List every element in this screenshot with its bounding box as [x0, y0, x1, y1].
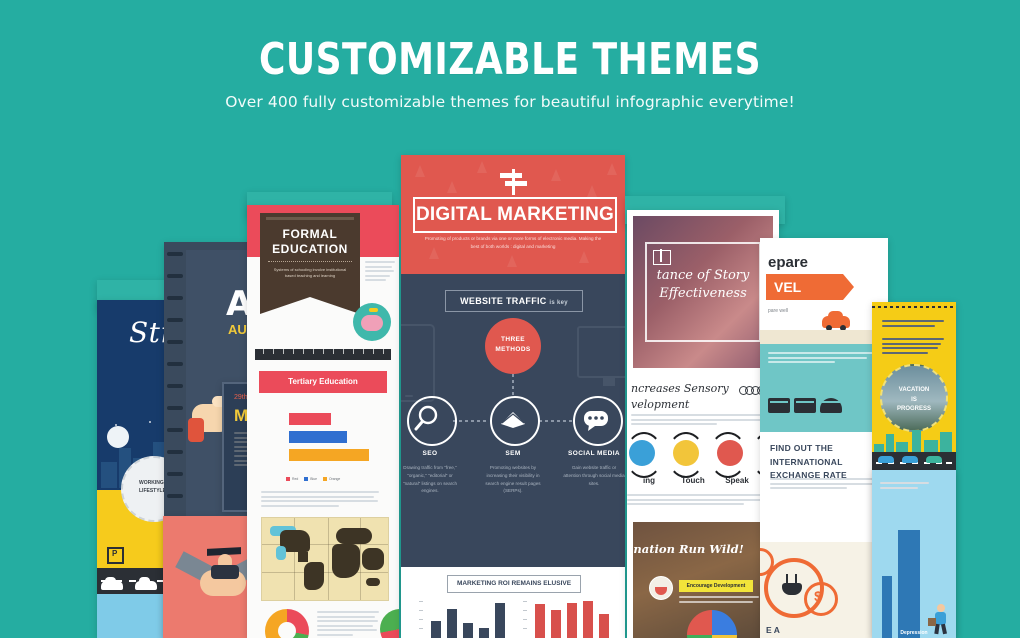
encourage-highlight: Encourage Development: [679, 580, 753, 592]
digital-marketing-title: DIGITAL MARKETING: [415, 204, 615, 226]
bar-large: Depression: [898, 530, 920, 638]
travel-teal-section: [760, 344, 888, 432]
travel-communication-section: $ E A MUNICATION PLAN: [760, 542, 888, 638]
method-label-social: SOCIAL MEDIA: [558, 450, 625, 457]
credit-card-icon: [768, 398, 790, 413]
graduation-cap-icon: [211, 548, 237, 574]
legend-item: Orange: [329, 477, 340, 481]
story-title-line-1: tance of Story: [637, 268, 769, 283]
story-photo: tance of Story Effectiveness: [633, 216, 773, 368]
plug-icon: [782, 574, 802, 596]
social-media-icon-circle[interactable]: [573, 396, 623, 446]
car-icon: [101, 581, 123, 590]
dna-label-3: Speak: [707, 476, 767, 485]
banner-title-line-1: FORMAL: [260, 227, 360, 241]
wallet-icon: [820, 398, 842, 413]
story-title-line-2: Effectiveness: [637, 286, 769, 301]
story-body: [631, 414, 767, 428]
vacation-body-1: [882, 320, 944, 329]
sand-band: [760, 330, 888, 344]
digital-marketing-chart-section: MARKETING ROI REMAINS ELUSIVE: [401, 567, 625, 638]
travel-ribbon-text: VEL: [774, 279, 801, 295]
roi-chart-title-box: MARKETING ROI REMAINS ELUSIVE: [447, 575, 581, 593]
theme-card-formal-education[interactable]: FORMAL EDUCATION Systems of schooling in…: [247, 205, 399, 638]
badge-line-2: LIFESTYLE: [139, 488, 166, 494]
exchange-body: [770, 478, 880, 492]
imagination-title: gination Run Wild!: [627, 542, 771, 556]
credit-card-icon: [794, 398, 816, 413]
dollar-circle-icon: $: [804, 582, 838, 616]
formal-education-body-right: [317, 611, 379, 638]
theme-gallery-stage: CUSTOMIZABLE THEMES Over 400 fully custo…: [0, 0, 1020, 638]
legend-item: Blue: [310, 477, 317, 481]
travel-heading: epare: [768, 254, 808, 271]
theme-card-depression-chart[interactable]: Depression: [872, 470, 956, 638]
roi-chart-red: [523, 599, 611, 638]
digital-marketing-subtitle: Promoting of products or brands via one …: [423, 235, 603, 251]
comm-line-1: E A: [766, 625, 780, 635]
dotted-divider: [872, 306, 956, 308]
travel-ribbon: VEL: [766, 274, 854, 300]
theme-card-travel[interactable]: epare VEL pare well FIND OUT THE INTERNA…: [760, 238, 888, 638]
hub-connector-left: [453, 420, 487, 422]
roi-chart-title: MARKETING ROI REMAINS ELUSIVE: [448, 580, 580, 587]
travel-teal-body: [768, 352, 880, 366]
car-icon: [135, 581, 157, 590]
communication-plan-title: E A MUNICATION PLAN: [766, 624, 845, 638]
hub-connector-vertical: [512, 374, 514, 396]
seo-icon-circle[interactable]: [407, 396, 457, 446]
method-label-sem: SEM: [477, 450, 549, 457]
moon-icon: [107, 426, 129, 448]
monitor-outline-icon: [577, 326, 625, 378]
imagination-body: [679, 596, 759, 605]
legend-item: Red: [292, 477, 298, 481]
exchange-title: FIND OUT THE INTERNATIONAL EXCHANGE RATE: [770, 442, 888, 483]
digital-marketing-title-box: DIGITAL MARKETING: [413, 197, 617, 233]
badge-line-3: PROGRESS: [897, 406, 931, 412]
tertiary-education-label: Tertiary Education: [259, 371, 387, 393]
story-heading-line-2: velopment: [631, 398, 689, 411]
ruler-divider-icon: [255, 349, 391, 360]
imagination-photo: gination Run Wild! Encourage Development: [633, 522, 773, 638]
digital-marketing-header: DIGITAL MARKETING Promoting of products …: [401, 155, 625, 274]
dna-body: [627, 494, 773, 508]
avatar-icon: [649, 576, 673, 600]
imagination-pie-chart: [687, 610, 737, 638]
parking-sign-icon: P: [107, 547, 124, 564]
signpost-icon: [499, 169, 527, 195]
parking-letter: P: [112, 549, 117, 558]
book-icon: [653, 250, 671, 265]
bar-label: Depression: [892, 630, 936, 636]
hub-line-1: THREE: [501, 336, 525, 343]
website-traffic-suffix: is key: [549, 300, 567, 306]
badge-line-2: IS: [911, 397, 917, 403]
piggy-bank-icon: [353, 303, 391, 341]
car-icon: [902, 456, 918, 463]
vacation-body-2: [882, 338, 944, 356]
banner-subtitle: Systems of schooling involve institution…: [270, 267, 350, 279]
banner-title-line-2: EDUCATION: [260, 242, 360, 256]
dna-helix-illustration: [627, 432, 779, 474]
theme-card-digital-marketing[interactable]: DIGITAL MARKETING Promoting of products …: [401, 155, 625, 638]
method-body-sem: Promoting websites by increasing their v…: [482, 464, 544, 495]
formal-education-banner: FORMAL EDUCATION Systems of schooling in…: [260, 213, 360, 297]
website-traffic-label: WEBSITE TRAFFIC: [460, 296, 547, 306]
digital-marketing-methods-section: WEBSITE TRAFFIC is key THREE METHODS: [401, 274, 625, 567]
formal-education-body-left: [261, 491, 379, 509]
story-heading-line-1: ncreases Sensory: [631, 382, 729, 395]
envelope-icon: [492, 398, 534, 440]
world-map-illustration: [261, 517, 389, 601]
three-methods-hub: THREE METHODS: [485, 318, 541, 374]
encourage-text: Encourage Development: [679, 583, 753, 589]
page-subtitle: Over 400 fully customizable themes for b…: [0, 93, 1020, 111]
education-donut-chart: [265, 609, 309, 638]
page-title: CUSTOMIZABLE THEMES: [92, 0, 928, 85]
method-body-seo: Drawing traffic from "free," "organic," …: [401, 464, 461, 495]
bar-chart-legend: Red Blue Orange: [281, 477, 340, 481]
website-traffic-box: WEBSITE TRAFFIC is key: [445, 290, 583, 312]
badge-line-1: VACATION: [899, 387, 929, 393]
car-icon: [926, 456, 942, 463]
hub-line-2: METHODS: [495, 346, 530, 353]
tablet-outline-icon: [401, 324, 435, 402]
magnifier-icon: [409, 398, 451, 440]
tertiary-education-text: Tertiary Education: [259, 377, 387, 386]
bar-small: [882, 576, 892, 638]
education-donut-chart-2: [380, 609, 399, 638]
blue-body: [880, 482, 944, 491]
car-icon: [878, 456, 894, 463]
theme-card-story-effectiveness[interactable]: tance of Story Effectiveness ncreases Se…: [627, 210, 779, 638]
formal-education-side-note: [365, 261, 395, 284]
hero-header: CUSTOMIZABLE THEMES Over 400 fully custo…: [0, 0, 1020, 111]
car-icon: [822, 316, 850, 328]
roi-chart-navy: [419, 599, 507, 638]
sem-icon-circle[interactable]: [490, 396, 540, 446]
method-label-seo: SEO: [401, 450, 466, 457]
chat-bubble-icon: [575, 398, 617, 440]
badge-line-1: WORKING: [139, 480, 164, 486]
method-body-social: Gain website traffic or attention throug…: [563, 464, 625, 487]
travel-sub: pare well: [768, 308, 788, 314]
travel-exchange-section: FIND OUT THE INTERNATIONAL EXCHANGE RATE: [760, 432, 888, 542]
walking-person-icon: [932, 604, 950, 634]
hub-connector-right: [539, 420, 573, 422]
